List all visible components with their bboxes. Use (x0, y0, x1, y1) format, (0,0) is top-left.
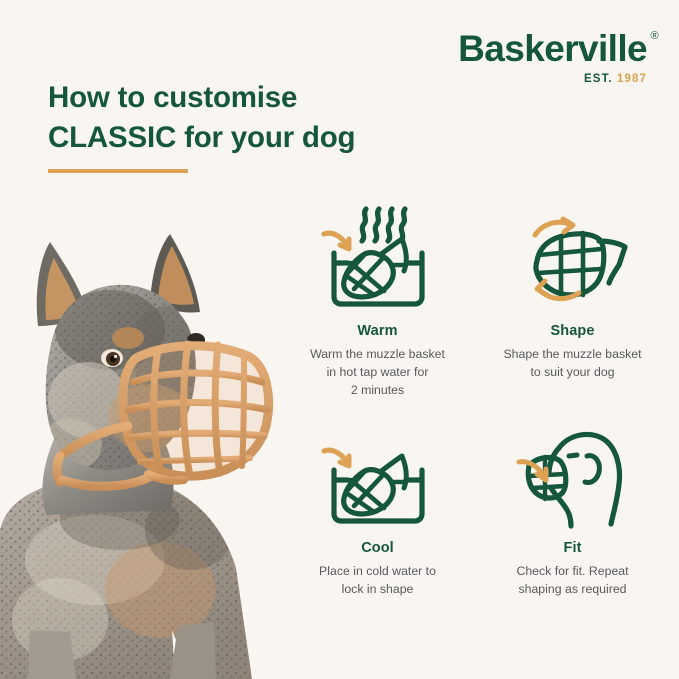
brand-est-label: EST. (584, 73, 613, 85)
fit-dog-head-icon (513, 422, 633, 530)
steps-grid: Warm Warm the muzzle basket in hot tap w… (285, 205, 665, 599)
muzzle-basket-icon (535, 233, 624, 295)
step-description: Shape the muzzle basket to suit your dog (503, 346, 641, 382)
dog-photo (0, 230, 300, 679)
step-title: Shape (550, 323, 594, 339)
page-title-line-2: CLASSIC for your dog (48, 121, 355, 154)
brand-established: EST. 1987 (458, 74, 647, 86)
cool-basin-icon (318, 422, 438, 530)
brand-logo: Baskerville ® EST. 1987 (458, 30, 647, 86)
shape-arrows-icon (535, 219, 579, 299)
brand-name-text: Baskerville (458, 28, 647, 69)
page-title: How to customise CLASSIC for your dog (48, 78, 418, 159)
dog-photo-illustration (0, 230, 300, 679)
step-shape: Shape Shape the muzzle basket to suit yo… (480, 205, 665, 400)
infographic-page: Baskerville ® EST. 1987 How to customise… (0, 0, 679, 679)
steam-lines-icon (362, 209, 405, 241)
brand-est-year: 1987 (617, 73, 647, 85)
muzzle-in-basin-icon (343, 239, 405, 297)
page-title-line-1: How to customise (48, 81, 297, 114)
step-warm: Warm Warm the muzzle basket in hot tap w… (285, 205, 470, 400)
step-description: Check for fit. Repeat shaping as require… (516, 563, 628, 599)
step-description: Warm the muzzle basket in hot tap water … (310, 346, 445, 400)
muzzle-in-basin-icon (343, 456, 405, 514)
step-title: Warm (357, 323, 397, 339)
step-title: Cool (361, 540, 394, 556)
arrow-into-basin-icon (324, 450, 349, 466)
warm-basin-steam-icon (318, 205, 438, 313)
brand-name: Baskerville ® (458, 30, 647, 67)
step-cool: Cool Place in cold water to lock in shap… (285, 422, 470, 599)
shape-muzzle-arrows-icon (513, 205, 633, 313)
step-title: Fit (563, 540, 581, 556)
title-underline-rule (48, 169, 188, 173)
registered-trademark-icon: ® (650, 31, 658, 42)
arrow-into-basin-icon (324, 233, 349, 249)
step-fit: Fit Check for fit. Repeat shaping as req… (480, 422, 665, 599)
step-description: Place in cold water to lock in shape (319, 563, 436, 599)
